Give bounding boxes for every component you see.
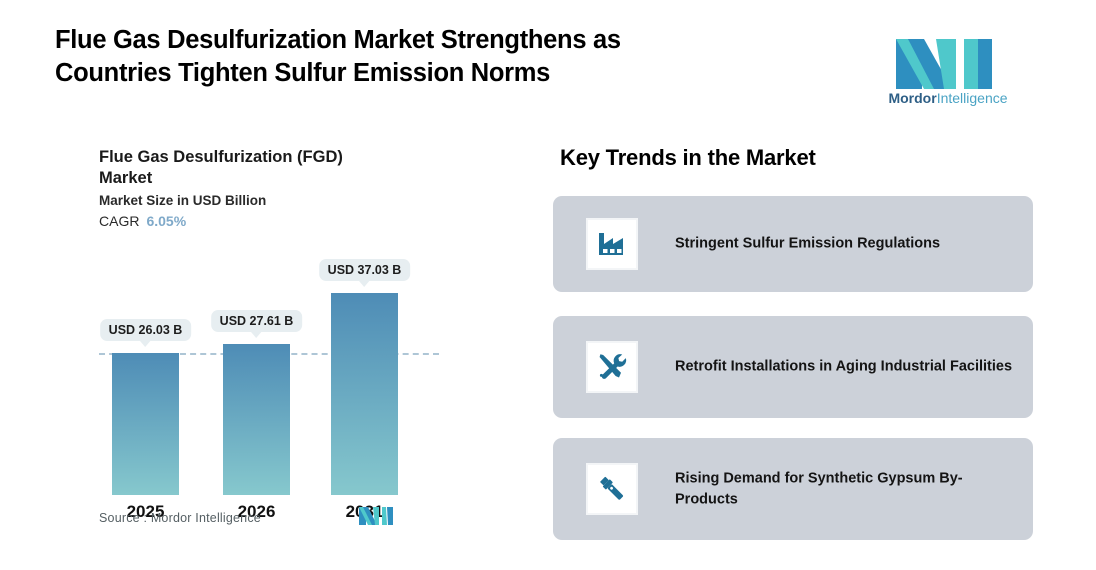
trend-card-2[interactable]: Retrofit Installations in Aging Industri… bbox=[553, 316, 1033, 418]
cagr-value: 6.05% bbox=[146, 213, 186, 229]
chart-panel: Flue Gas Desulfurization (FGD) Market Ma… bbox=[0, 120, 540, 570]
trend-card-label: Retrofit Installations in Aging Industri… bbox=[675, 357, 1020, 378]
source-label: Source : Mordor Intelligence bbox=[99, 511, 261, 525]
bar-group-2031: USD 37.03 B bbox=[331, 230, 398, 495]
trend-card-label: Stringent Sulfur Emission Regulations bbox=[675, 234, 1020, 255]
tools-icon bbox=[586, 341, 638, 393]
bar-group-2025: USD 26.03 B bbox=[112, 230, 179, 495]
factory-icon bbox=[586, 218, 638, 270]
trends-panel: Key Trends in the Market Stringent Sulfu… bbox=[540, 120, 1096, 570]
flashlight-icon bbox=[586, 463, 638, 515]
chart-title: Flue Gas Desulfurization (FGD) Market bbox=[99, 147, 399, 190]
cagr-row: CAGR6.05% bbox=[99, 213, 186, 229]
page-header: Flue Gas Desulfurization Market Strength… bbox=[0, 0, 1096, 120]
cagr-label: CAGR bbox=[99, 213, 139, 229]
trend-card-1[interactable]: Stringent Sulfur Emission Regulations bbox=[553, 196, 1033, 292]
page-title: Flue Gas Desulfurization Market Strength… bbox=[55, 24, 775, 90]
bar-2031[interactable] bbox=[331, 293, 398, 495]
mordor-intelligence-logo: MordorIntelligence bbox=[878, 27, 1018, 107]
trends-heading: Key Trends in the Market bbox=[560, 145, 816, 171]
bar-value-label: USD 37.03 B bbox=[319, 259, 411, 282]
trend-card-3[interactable]: Rising Demand for Synthetic Gypsum By-Pr… bbox=[553, 438, 1033, 540]
bar-2025[interactable] bbox=[112, 353, 179, 495]
bar-chart-plot: USD 26.03 B USD 27.61 B USD 37.03 B 2025… bbox=[99, 230, 439, 495]
mordor-intelligence-mark-icon bbox=[358, 505, 394, 527]
bar-group-2026: USD 27.61 B bbox=[223, 230, 290, 495]
bar-value-label: USD 27.61 B bbox=[211, 310, 303, 333]
trend-card-label: Rising Demand for Synthetic Gypsum By-Pr… bbox=[675, 468, 1020, 509]
svg-text:MordorIntelligence: MordorIntelligence bbox=[888, 90, 1007, 106]
chart-subtitle: Market Size in USD Billion bbox=[99, 193, 266, 208]
bar-value-label: USD 26.03 B bbox=[100, 319, 192, 342]
bar-2026[interactable] bbox=[223, 344, 290, 495]
